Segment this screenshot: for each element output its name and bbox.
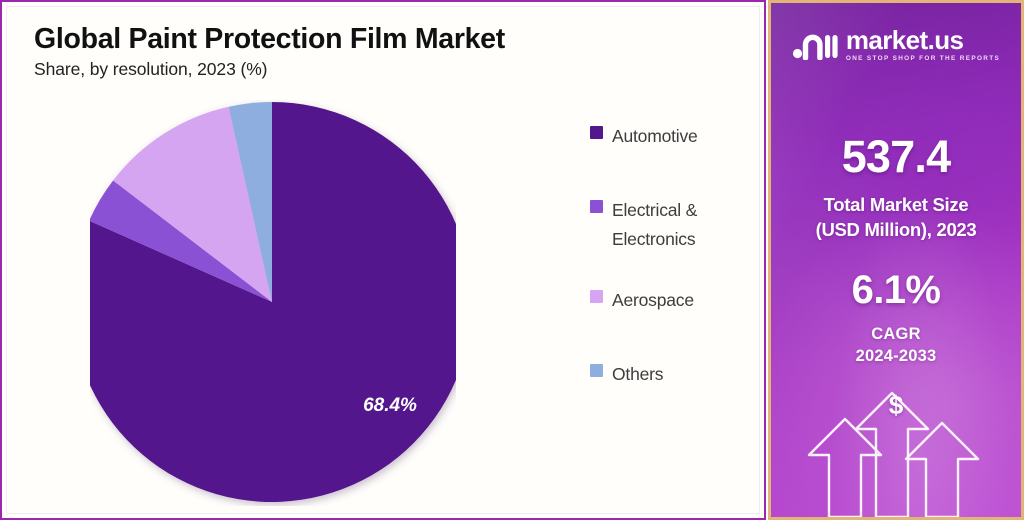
chart-card: Global Paint Protection Film Market Shar… [0, 0, 766, 520]
chart-header: Global Paint Protection Film Market Shar… [34, 24, 694, 80]
stats-panel: market.us ONE STOP SHOP FOR THE REPORTS … [768, 0, 1024, 520]
cagr-caption: CAGR 2024-2033 [781, 323, 1011, 368]
legend-item-label: Others [612, 360, 663, 388]
brand-tagline: ONE STOP SHOP FOR THE REPORTS [846, 56, 1000, 62]
legend-item-others[interactable]: Others [590, 360, 760, 388]
legend-swatch-icon [590, 290, 603, 303]
market-size-caption: Total Market Size (USD Million), 2023 [781, 193, 1011, 242]
infographic-root: Global Paint Protection Film Market Shar… [0, 0, 1024, 520]
page-subtitle: Share, by resolution, 2023 (%) [34, 59, 694, 80]
chart-legend: Automotive Electrical & Electronics Aero… [590, 122, 760, 389]
legend-item-label: Electrical & Electronics [612, 196, 697, 253]
market-size-value: 537.4 [771, 131, 1021, 183]
brand-name: market.us [846, 27, 1000, 53]
market-us-logo-icon [792, 30, 838, 60]
pie-chart: 68.4% [90, 100, 456, 506]
legend-item-label: Automotive [612, 122, 698, 150]
pie-slices-group [90, 102, 456, 502]
legend-item-automotive[interactable]: Automotive [590, 122, 760, 150]
legend-swatch-icon [590, 200, 603, 213]
page-title: Global Paint Protection Film Market [34, 24, 694, 56]
legend-item-electrical-electronics[interactable]: Electrical & Electronics [590, 196, 760, 253]
legend-item-label: Aerospace [612, 286, 694, 314]
pie-label-automotive: 68.4% [363, 395, 417, 416]
pie-chart-svg: 68.4% [90, 100, 456, 506]
legend-swatch-icon [590, 364, 603, 377]
brand-logo[interactable]: market.us ONE STOP SHOP FOR THE REPORTS [771, 27, 1021, 62]
cagr-value: 6.1% [771, 268, 1021, 313]
legend-item-aerospace[interactable]: Aerospace [590, 286, 760, 314]
legend-swatch-icon [590, 126, 603, 139]
panel-content: market.us ONE STOP SHOP FOR THE REPORTS … [771, 3, 1021, 517]
growth-arrows-icon [771, 367, 1021, 517]
